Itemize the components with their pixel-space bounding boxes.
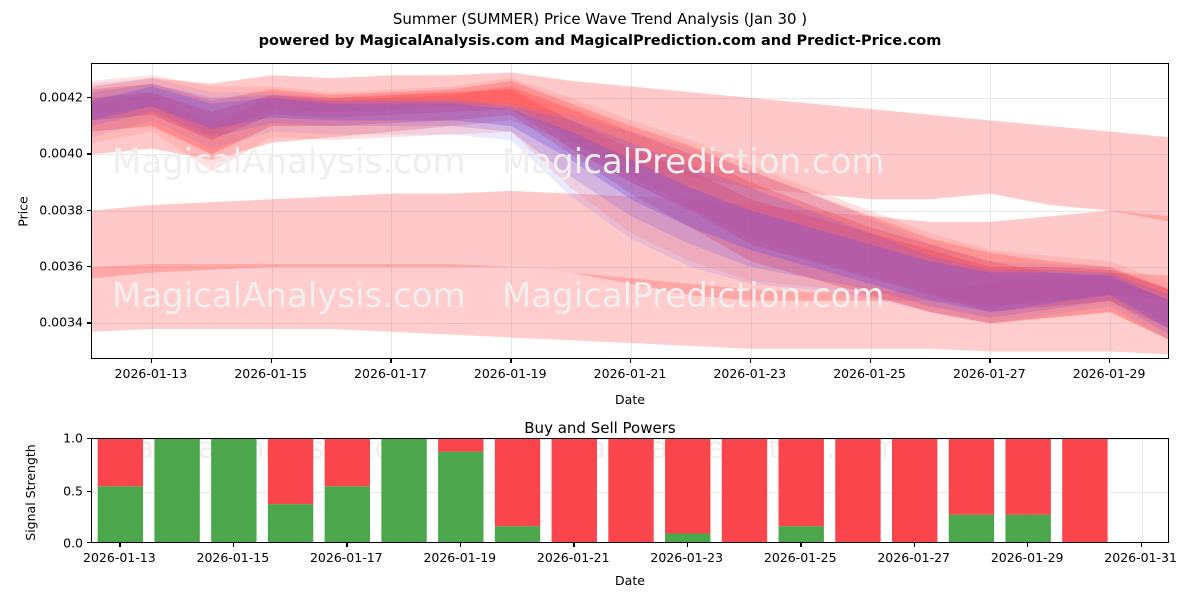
bar-stack[interactable] [381,439,426,543]
bar-stack[interactable] [892,439,937,543]
bar-stack[interactable] [438,439,483,543]
sell-power-bar[interactable] [608,439,653,543]
sell-power-bar[interactable] [98,439,143,486]
sell-power-bar[interactable] [1005,439,1050,515]
x-tickmark [346,543,347,547]
bar-stack[interactable] [1005,439,1050,543]
y-tickmark [87,491,91,492]
sell-power-bar[interactable] [779,439,824,526]
x-tickmark [233,543,234,547]
bar-stack[interactable] [835,439,880,543]
buy-sell-panel-title: Buy and Sell Powers [0,419,1200,437]
bar-stack[interactable] [325,439,370,543]
bar-stack[interactable] [268,439,313,543]
bar-stack[interactable] [495,439,540,543]
x-tickmark [989,359,990,363]
bar-stack[interactable] [722,439,767,543]
y-tickmark [87,542,91,543]
bar-stack[interactable] [552,439,597,543]
y-tick-label: 0.0040 [13,146,83,161]
bar-stack[interactable] [665,439,710,543]
x-tickmark [914,543,915,547]
x-tick-label: 2026-01-13 [83,550,156,565]
x-tick-label: 2026-01-21 [537,550,610,565]
x-tick-label: 2026-01-29 [1073,366,1146,381]
x-tick-label: 2026-01-17 [310,550,383,565]
sell-power-bar[interactable] [438,439,483,452]
x-tick-label: 2026-01-19 [474,366,547,381]
buy-sell-chart-axes: MagicalAnalysis.comMagicalPrediction.com [91,438,1169,543]
y-tickmark [87,438,91,439]
sell-power-bar[interactable] [835,439,880,543]
x-tick-label: 2026-01-19 [423,550,496,565]
x-tick-label: 2026-01-17 [354,366,427,381]
x-tickmark [510,359,511,363]
x-tick-label: 2026-01-21 [594,366,667,381]
sell-power-bar[interactable] [495,439,540,526]
figure-title: Summer (SUMMER) Price Wave Trend Analysi… [0,9,1200,30]
buy-sell-xlabel: Date [580,573,680,588]
x-tickmark [630,359,631,363]
sell-power-bar[interactable] [1062,439,1107,543]
buy-power-bar[interactable] [779,526,824,543]
y-tick-label: 1.0 [43,431,83,446]
buy-power-bar[interactable] [438,452,483,543]
x-tick-label: 2026-01-27 [953,366,1026,381]
sell-power-bar[interactable] [325,439,370,486]
sell-power-bar[interactable] [665,439,710,534]
buy-power-bar[interactable] [949,515,994,543]
x-tickmark [390,359,391,363]
x-tick-label: 2026-01-31 [1104,550,1177,565]
sell-power-bar[interactable] [892,439,937,543]
buy-power-bar[interactable] [211,439,256,543]
bar-stack[interactable] [608,439,653,543]
y-tick-label: 0.0042 [13,89,83,104]
x-tickmark [1109,359,1110,363]
x-tick-label: 2026-01-15 [197,550,270,565]
bar-stack[interactable] [949,439,994,543]
buy-power-bar[interactable] [325,486,370,543]
x-tick-label: 2026-01-15 [234,366,307,381]
x-tickmark [1027,543,1028,547]
bar-stack[interactable] [98,439,143,543]
bar-stack[interactable] [154,439,199,543]
y-tickmark [87,153,91,154]
price-wave-bands [92,64,1169,359]
x-tickmark [119,543,120,547]
x-tickmark [271,359,272,363]
y-tick-label: 0.0 [43,536,83,551]
x-tick-label: 2026-01-25 [764,550,837,565]
buy-power-bar[interactable] [268,504,313,543]
price-chart-ylabel: Price [16,182,31,242]
x-tickmark [687,543,688,547]
buy-power-bar[interactable] [495,526,540,543]
bar-stack[interactable] [779,439,824,543]
sell-power-bar[interactable] [949,439,994,515]
y-tickmark [87,322,91,323]
x-tickmark [460,543,461,547]
x-tick-label: 2026-01-27 [877,550,950,565]
sell-power-bar[interactable] [552,439,597,543]
price-wave-chart-axes: MagicalAnalysis.comMagicalPrediction.com… [91,63,1169,359]
y-tick-label: 0.5 [43,483,83,498]
buy-power-bar[interactable] [154,439,199,543]
x-tick-label: 2026-01-25 [833,366,906,381]
y-tickmark [87,97,91,98]
y-tick-label: 0.0036 [13,258,83,273]
x-tick-label: 2026-01-23 [650,550,723,565]
price-chart-xlabel: Date [580,392,680,407]
sell-power-bar[interactable] [722,439,767,543]
x-tickmark [870,359,871,363]
buy-power-bar[interactable] [381,439,426,543]
sell-power-bar[interactable] [268,439,313,504]
x-tickmark [750,359,751,363]
bar-stack[interactable] [211,439,256,543]
y-tickmark [87,210,91,211]
buy-power-bar[interactable] [1005,515,1050,543]
figure-root: Summer (SUMMER) Price Wave Trend Analysi… [0,0,1200,600]
buy-power-bar[interactable] [665,534,710,544]
x-tickmark [573,543,574,547]
y-tick-label: 0.0034 [13,315,83,330]
figure-subtitle: powered by MagicalAnalysis.com and Magic… [0,31,1200,52]
x-tickmark [151,359,152,363]
x-tickmark [800,543,801,547]
x-tick-label: 2026-01-29 [991,550,1064,565]
y-tickmark [87,266,91,267]
x-tickmark [1141,543,1142,547]
x-tick-label: 2026-01-23 [713,366,786,381]
bar-stack[interactable] [1062,439,1107,543]
buy-power-bar[interactable] [98,486,143,543]
buy-sell-ylabel: Signal Strength [23,440,38,545]
x-tick-label: 2026-01-13 [115,366,188,381]
buy-sell-bar-group[interactable] [92,439,1169,543]
